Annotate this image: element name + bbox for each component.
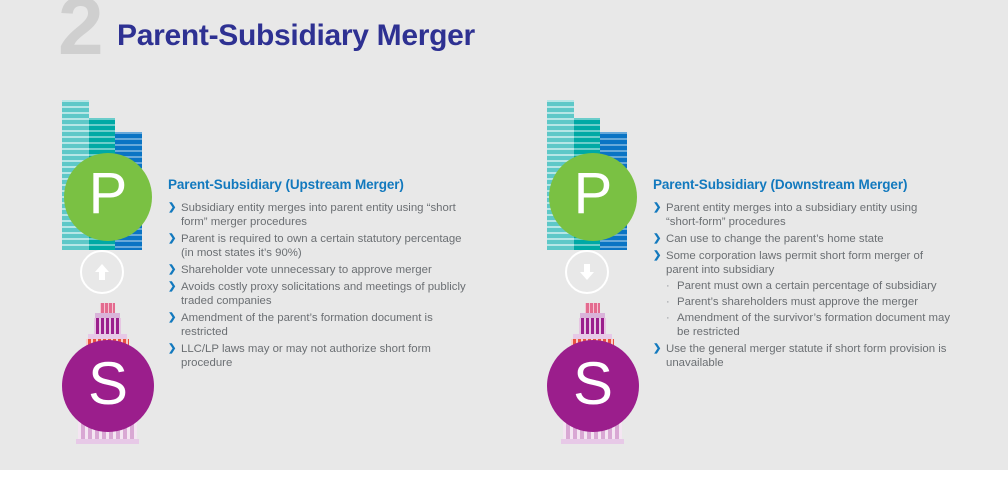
chevron-right-icon: ❯ — [168, 201, 176, 215]
building-plinth — [76, 439, 139, 444]
chevron-right-icon: ❯ — [168, 263, 176, 277]
list-item: ❯ Parent is required to own a certain st… — [168, 232, 468, 260]
list-item-text: Shareholder vote unnecessary to approve … — [181, 264, 432, 276]
chevron-right-icon: ❯ — [168, 311, 176, 325]
chevron-right-icon: ❯ — [653, 249, 661, 263]
building-cap — [585, 303, 600, 313]
list-item: ❯ Use the general merger statute if shor… — [653, 342, 953, 370]
subtitle-downstream: Parent-Subsidiary (Downstream Merger) — [653, 177, 953, 192]
sub-list-item: · Parent must own a certain percentage o… — [666, 279, 953, 293]
building-tier-1 — [94, 318, 121, 334]
list-item-text: Parent entity merges into a subsidiary e… — [666, 202, 917, 228]
list-item-text: Parent is required to own a certain stat… — [181, 233, 462, 259]
list-item-text: Avoids costly proxy solicitations and me… — [181, 281, 466, 307]
list-item-text: Some corporation laws permit short form … — [666, 250, 923, 276]
building-tier-1 — [579, 318, 606, 334]
parent-badge-letter: P — [89, 165, 128, 223]
chevron-right-icon: ❯ — [653, 201, 661, 215]
chevron-right-icon: ❯ — [168, 342, 176, 356]
graphic-downstream: P S — [535, 95, 650, 445]
subsidiary-badge: S — [547, 340, 639, 432]
bullet-list-upstream: ❯ Subsidiary entity merges into parent e… — [168, 201, 468, 370]
list-item-text: Subsidiary entity merges into parent ent… — [181, 202, 456, 228]
list-item: ❯ Can use to change the parent’s home st… — [653, 232, 953, 246]
list-item: ❯ Shareholder vote unnecessary to approv… — [168, 263, 468, 277]
building-plinth — [561, 439, 624, 444]
dot-bullet-icon: · — [666, 311, 670, 325]
arrow-up-circle-icon — [80, 250, 124, 294]
sub-list-item: · Amendment of the survivor’s formation … — [666, 311, 953, 339]
subsidiary-badge: S — [62, 340, 154, 432]
list-item: ❯ Some corporation laws permit short for… — [653, 249, 953, 339]
slide-canvas: 2 Parent-Subsidiary Merger P — [0, 0, 1008, 470]
dot-bullet-icon: · — [666, 279, 670, 293]
subsidiary-badge-letter: S — [88, 354, 128, 414]
dot-bullet-icon: · — [666, 295, 670, 309]
chevron-right-icon: ❯ — [653, 342, 661, 356]
arrow-down-circle-icon — [565, 250, 609, 294]
sub-list-item-text: Amendment of the survivor’s formation do… — [677, 312, 950, 338]
list-item-text: LLC/LP laws may or may not authorize sho… — [181, 343, 431, 369]
list-item: ❯ Parent entity merges into a subsidiary… — [653, 201, 953, 229]
sub-list-item-text: Parent must own a certain percentage of … — [677, 280, 937, 292]
parent-badge: P — [549, 153, 637, 241]
subsidiary-badge-letter: S — [573, 354, 613, 414]
bullet-list-downstream: ❯ Parent entity merges into a subsidiary… — [653, 201, 953, 370]
slide-header: 2 Parent-Subsidiary Merger — [0, 0, 1008, 82]
chevron-right-icon: ❯ — [168, 280, 176, 294]
list-item: ❯ Subsidiary entity merges into parent e… — [168, 201, 468, 229]
list-item-text: Can use to change the parent’s home stat… — [666, 233, 884, 245]
graphic-upstream: P S — [50, 95, 165, 445]
chevron-right-icon: ❯ — [168, 232, 176, 246]
building-cap — [100, 303, 115, 313]
page-title: Parent-Subsidiary Merger — [117, 19, 475, 53]
list-item: ❯ Amendment of the parent’s formation do… — [168, 311, 468, 339]
textblock-downstream: Parent-Subsidiary (Downstream Merger) ❯ … — [653, 177, 953, 373]
parent-badge-letter: P — [574, 165, 613, 223]
list-item-text: Use the general merger statute if short … — [666, 343, 946, 369]
sub-list-item-text: Parent’s shareholders must approve the m… — [677, 296, 918, 308]
step-number: 2 — [58, 0, 102, 68]
parent-badge: P — [64, 153, 152, 241]
list-item: ❯ Avoids costly proxy solicitations and … — [168, 280, 468, 308]
list-item-text: Amendment of the parent’s formation docu… — [181, 312, 433, 338]
sub-bullet-list: · Parent must own a certain percentage o… — [666, 279, 953, 339]
sub-list-item: · Parent’s shareholders must approve the… — [666, 295, 953, 309]
textblock-upstream: Parent-Subsidiary (Upstream Merger) ❯ Su… — [168, 177, 468, 373]
subtitle-upstream: Parent-Subsidiary (Upstream Merger) — [168, 177, 468, 192]
chevron-right-icon: ❯ — [653, 232, 661, 246]
list-item: ❯ LLC/LP laws may or may not authorize s… — [168, 342, 468, 370]
